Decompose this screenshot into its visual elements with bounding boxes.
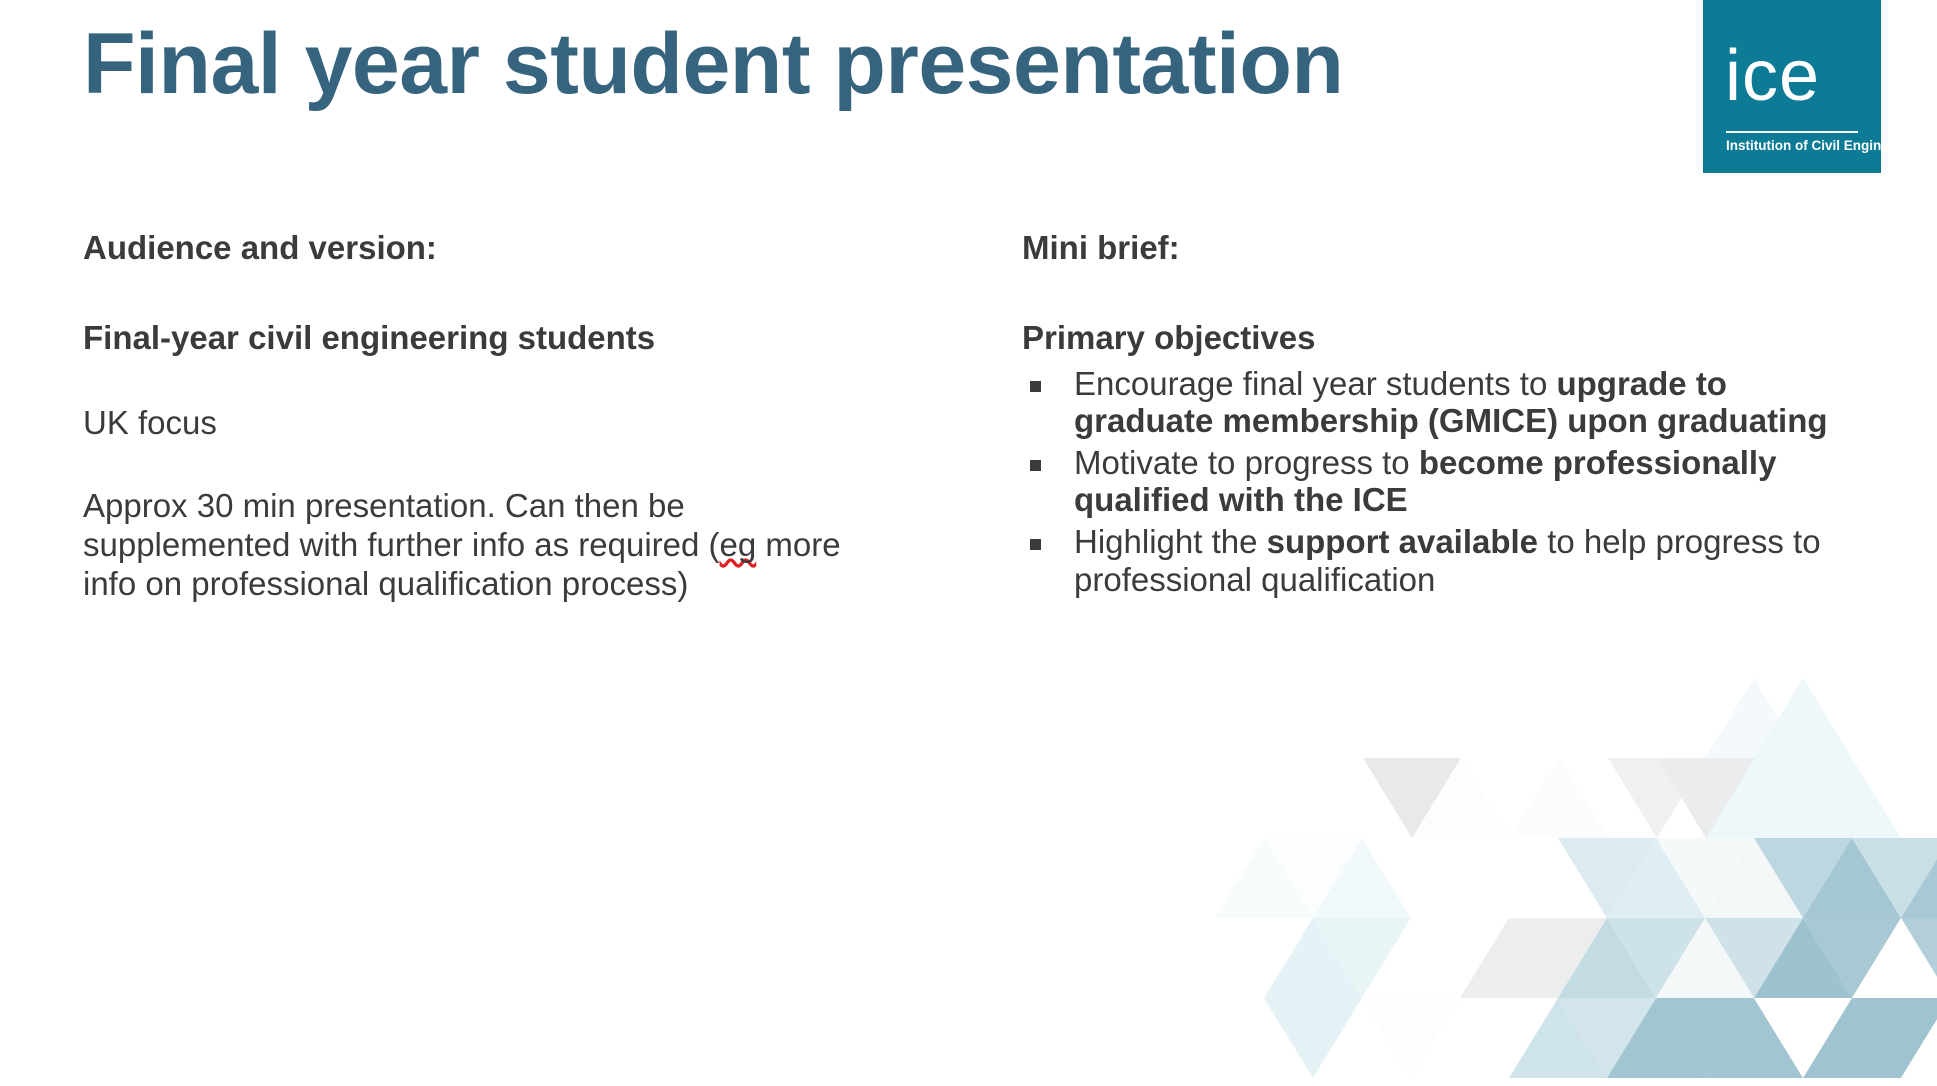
mini-brief-column: Mini brief: Primary objectives Encourage… [1022, 228, 1842, 602]
list-item: Highlight the support available to help … [1022, 523, 1842, 598]
square-bullet-icon [1030, 539, 1041, 550]
triangle-lattice-pattern [1215, 640, 1937, 1086]
audience-paragraph: Approx 30 min presentation. Can then be … [83, 486, 873, 604]
bullet-text-part-1: Encourage final year students to [1074, 365, 1556, 402]
page-title: Final year student presentation [83, 18, 1643, 111]
triangle-row-3 [1215, 838, 1937, 918]
ice-logo-strapline: Institution of Civil Engineers [1726, 138, 1876, 153]
audience-subheading: Final-year civil engineering students [83, 318, 873, 358]
spellcheck-flagged-word: eg [720, 526, 757, 563]
ice-logo-divider [1726, 131, 1858, 133]
bullet-text-bold: support available [1267, 523, 1538, 560]
bullet-text-part-1: Highlight the [1074, 523, 1267, 560]
ice-logo-wordmark: ice [1725, 42, 1820, 110]
spacer [83, 268, 873, 318]
triangle-row-1 [1705, 678, 1852, 758]
square-bullet-icon [1030, 381, 1041, 392]
list-item: Encourage final year students to upgrade… [1022, 365, 1842, 440]
triangle-lattice-svg [1215, 640, 1937, 1086]
audience-focus-line: UK focus [83, 403, 873, 442]
spacer [1022, 268, 1842, 318]
primary-objectives-heading: Primary objectives [1022, 318, 1842, 358]
spacer [83, 359, 873, 403]
audience-paragraph-part-1: Approx 30 min presentation. Can then be … [83, 487, 720, 563]
square-bullet-icon [1030, 460, 1041, 471]
bullet-text-part-1: Motivate to progress to [1074, 444, 1419, 481]
mini-brief-heading: Mini brief: [1022, 228, 1842, 268]
slide-canvas: Final year student presentation ice Inst… [0, 0, 1937, 1086]
list-item: Motivate to progress to become professio… [1022, 444, 1842, 519]
ice-logo: ice Institution of Civil Engineers [1703, 0, 1881, 173]
primary-objectives-list: Encourage final year students to upgrade… [1022, 365, 1842, 599]
triangle-row-5 [1215, 998, 1937, 1078]
spacer [83, 442, 873, 486]
triangle-row-4 [1215, 918, 1937, 998]
triangle-row-2 [1363, 678, 1937, 838]
audience-heading: Audience and version: [83, 228, 873, 268]
audience-and-version-column: Audience and version: Final-year civil e… [83, 228, 873, 604]
